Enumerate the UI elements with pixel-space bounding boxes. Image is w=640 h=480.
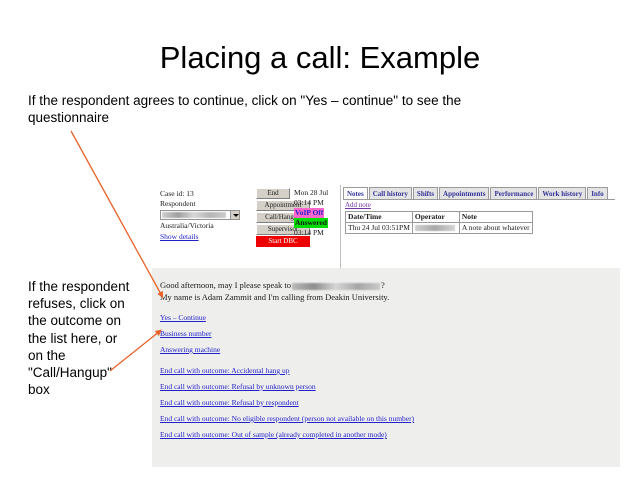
embedded-app-screenshot: Case id: 13 Respondent Australia/Victori… [152,185,620,467]
case-info-block: Case id: 13 Respondent Australia/Victori… [160,189,252,242]
outcome-refusal-by-respondent[interactable]: End call with outcome: Refusal by respon… [160,398,600,408]
respondent-value-redacted [162,212,226,218]
cell-note: A note about whatever [459,223,532,234]
outcome-out-of-sample[interactable]: End call with outcome: Out of sample (al… [160,430,600,440]
respondent-name-redacted [292,283,380,290]
add-note-link[interactable]: Add note [345,201,371,210]
callout-text-left: If the respondent refuses, click on the … [28,278,132,398]
call-script-text: Good afternoon, may I please speak to? M… [160,279,389,303]
tab-strip-divider [343,199,615,200]
call-state-badge: Answered [294,218,328,228]
respondent-label: Respondent [160,199,252,209]
column-header-operator: Operator [412,212,459,223]
outcome-link-list: Yes – Continue Business number Answering… [160,313,600,440]
page-title: Placing a call: Example [0,38,640,78]
chevron-down-icon[interactable] [230,211,239,219]
end-button[interactable]: End [256,188,290,199]
outcome-yes-continue[interactable]: Yes – Continue [160,313,600,323]
show-details-link[interactable]: Show details [160,232,199,242]
script-line-1-before: Good afternoon, may I please speak to [160,280,291,290]
detail-tab-panel: Notes Call history Shifts Appointments P… [340,185,620,268]
notes-table: Date/Time Operator Note Thu 24 Jul 03:51… [345,211,533,234]
column-header-note: Note [459,212,532,223]
outcome-business-number[interactable]: Business number [160,329,600,339]
script-line-1: Good afternoon, may I please speak to? [160,279,389,291]
case-id-label: Case id: 13 [160,189,252,199]
script-line-2: My name is Adam Zammit and I'm calling f… [160,291,389,303]
callout-text-top: If the respondent agrees to continue, cl… [28,92,468,126]
respondent-select[interactable] [160,210,240,220]
column-header-datetime: Date/Time [346,212,413,223]
table-row: Thu 24 Jul 03:51PM A note about whatever [346,223,533,234]
voip-status-badge: VoIP Off [294,208,324,218]
outcome-refusal-unknown-person[interactable]: End call with outcome: Refusal by unknow… [160,382,600,392]
timezone-label: Australia/Victoria [160,221,252,231]
arrow-to-yes-continue [71,131,162,296]
outcome-accidental-hang-up[interactable]: End call with outcome: Accidental hang u… [160,366,600,376]
table-header-row: Date/Time Operator Note [346,212,533,223]
cell-operator [412,223,459,234]
outcome-answering-machine[interactable]: Answering machine [160,345,600,355]
operator-redacted [415,225,455,231]
script-line-1-after: ? [381,280,385,290]
cell-datetime: Thu 24 Jul 03:51PM [346,223,413,234]
outcome-no-eligible-respondent[interactable]: End call with outcome: No eligible respo… [160,414,600,424]
